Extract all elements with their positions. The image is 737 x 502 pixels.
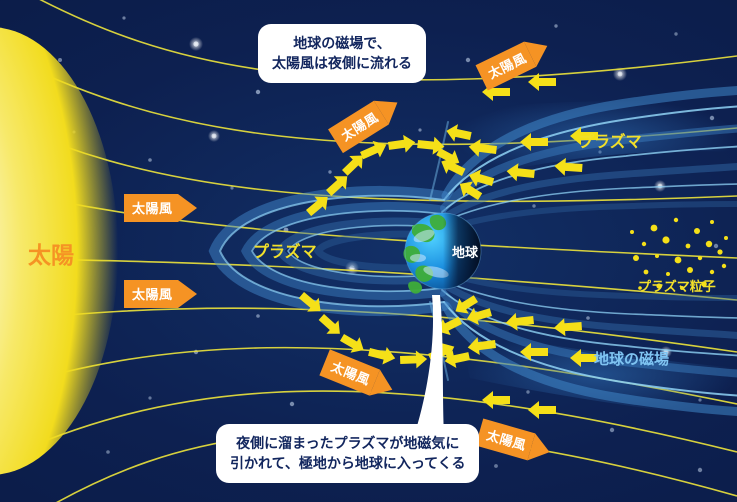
callout-bottom-line1: 夜側に溜まったプラズマが地磁気に	[230, 433, 465, 453]
earth-field-label: 地球の磁場	[594, 348, 669, 369]
callout-bottom: 夜側に溜まったプラズマが地磁気に 引かれて、極地から地球に入ってくる	[216, 424, 479, 483]
earth-label: 地球	[452, 242, 478, 261]
solar-wind-arrow-4: 太陽風	[124, 280, 197, 308]
magnetosphere-diagram: 太陽 太陽風 太陽風 太陽風 太陽風 太陽風 太陽風 プラズマ プラズマ プラズ…	[0, 0, 737, 502]
solar-wind-label: 太陽風	[124, 280, 178, 308]
arrow-head-icon	[178, 194, 197, 222]
callout-top: 地球の磁場で、 太陽風は夜側に流れる	[258, 24, 426, 83]
solar-wind-label: 太陽風	[124, 194, 178, 222]
plasma-label-left: プラズマ	[253, 238, 317, 262]
arrow-head-icon	[178, 280, 197, 308]
callout-top-line2: 太陽風は夜側に流れる	[272, 53, 412, 73]
plasma-particles-label: プラズマ粒子	[638, 276, 716, 295]
solar-wind-arrow-3: 太陽風	[124, 194, 197, 222]
sun-label: 太陽	[28, 236, 74, 270]
callout-bottom-line2: 引かれて、極地から地球に入ってくる	[230, 453, 465, 473]
callout-top-line1: 地球の磁場で、	[272, 33, 412, 53]
plasma-label-right: プラズマ	[578, 128, 642, 152]
